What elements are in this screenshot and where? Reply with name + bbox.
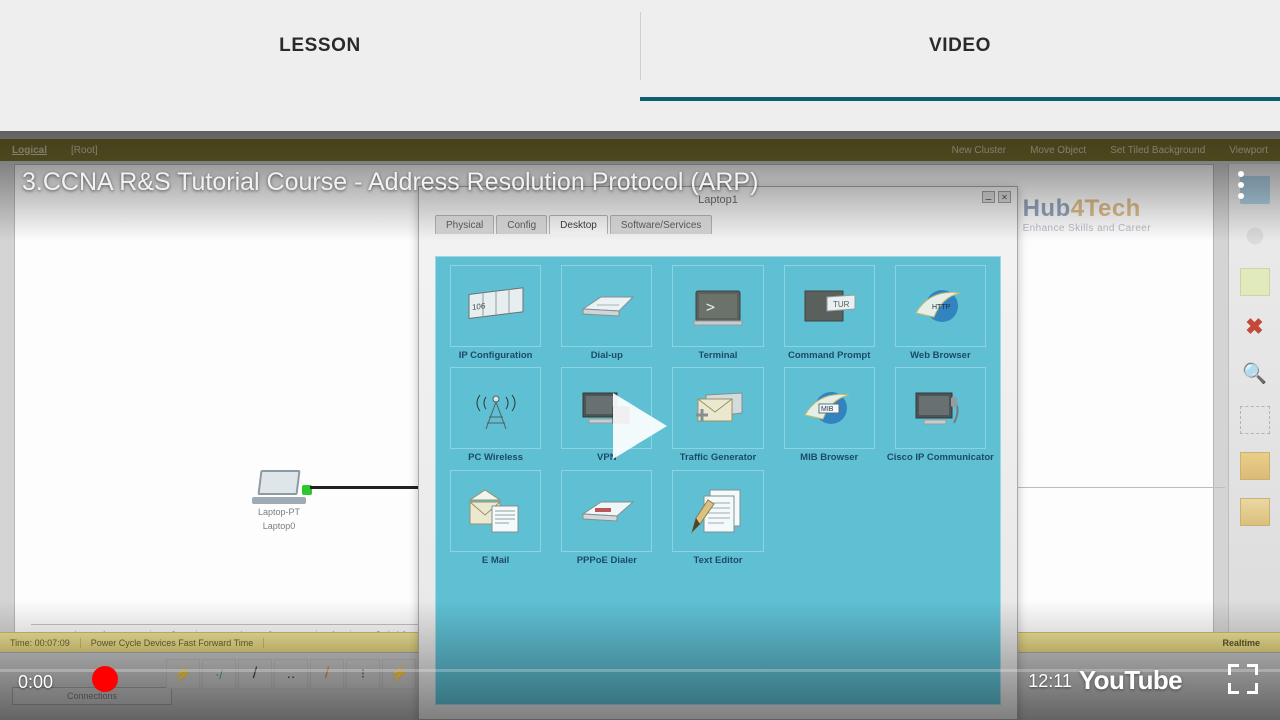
- device-desktop-panel: 106 IP Configuration: [435, 256, 1001, 705]
- desktop-item-label: E Mail: [442, 555, 549, 566]
- laptop-name-label: Laptop0: [247, 521, 311, 532]
- pt-status-mode[interactable]: Realtime: [1222, 638, 1280, 648]
- minimize-button[interactable]: ⚊: [982, 191, 995, 203]
- pt-status-time: Time: 00:07:09: [0, 638, 81, 648]
- fullscreen-corner-tl: [1228, 664, 1239, 675]
- desktop-item-ip-configuration[interactable]: 106 IP Configuration: [442, 265, 549, 367]
- svg-text:106: 106: [472, 301, 486, 312]
- fullscreen-corner-bl: [1228, 683, 1239, 694]
- device-tab-desktop[interactable]: Desktop: [549, 215, 608, 234]
- desktop-item-label: Command Prompt: [776, 350, 883, 361]
- device-tab-physical[interactable]: Physical: [435, 215, 494, 234]
- pt-menu-bar: Logical [Root] New Cluster Move Object S…: [0, 139, 1280, 161]
- pt-tool-inspect-hand-icon[interactable]: [1240, 222, 1270, 250]
- pt-menu-root[interactable]: [Root]: [59, 145, 110, 156]
- laptop-icon: [252, 470, 306, 504]
- traffic-generator-icon: [672, 367, 763, 449]
- svg-text:MIB: MIB: [821, 406, 834, 413]
- pt-right-toolbar: ✖ 🔍: [1228, 164, 1280, 709]
- laptop-screen-shape: [257, 470, 300, 495]
- desktop-item-mib-browser[interactable]: MIB MIB Browser: [776, 367, 883, 469]
- text-editor-icon: [672, 470, 763, 552]
- pc-wireless-icon: [450, 367, 541, 449]
- svg-text:TUR: TUR: [833, 300, 850, 309]
- video-title[interactable]: 3.CCNA R&S Tutorial Course - Address Res…: [22, 168, 758, 197]
- video-player[interactable]: Logical [Root] New Cluster Move Object S…: [0, 131, 1280, 720]
- desktop-item-label: MIB Browser: [776, 452, 883, 463]
- watermark-title: Hub4Tech: [1023, 195, 1151, 223]
- device-tab-software-services[interactable]: Software/Services: [610, 215, 713, 234]
- tab-lesson-label: LESSON: [279, 35, 361, 57]
- duration-label: 12:11: [1028, 671, 1072, 692]
- active-tab-indicator: [640, 97, 1280, 101]
- device-dialog-laptop1: Laptop1 ⚊ ✕ Physical Config Desktop Soft…: [418, 186, 1018, 720]
- ip-configuration-icon: 106: [450, 265, 541, 347]
- play-triangle-icon[interactable]: [613, 393, 667, 459]
- command-prompt-icon: TUR: [784, 265, 875, 347]
- desktop-item-label: PC Wireless: [442, 452, 549, 463]
- pt-tool-magnifier-icon[interactable]: 🔍: [1240, 360, 1270, 388]
- current-time-label: 0:00: [18, 672, 53, 693]
- desktop-item-dial-up[interactable]: Dial-up: [553, 265, 660, 367]
- desktop-item-label: Traffic Generator: [664, 452, 771, 463]
- desktop-item-cisco-ip-communicator[interactable]: Cisco IP Communicator: [887, 367, 994, 469]
- fullscreen-corner-tr: [1247, 664, 1258, 675]
- mib-browser-icon: MIB: [784, 367, 875, 449]
- desktop-item-label: IP Configuration: [442, 350, 549, 361]
- watermark-part3: Tech: [1085, 195, 1141, 222]
- desktop-item-pc-wireless[interactable]: PC Wireless: [442, 367, 549, 469]
- web-browser-icon: HTTP: [895, 265, 986, 347]
- desktop-item-label: Cisco IP Communicator: [887, 452, 994, 463]
- desktop-item-web-browser[interactable]: HTTP Web Browser: [887, 265, 994, 367]
- desktop-item-command-prompt[interactable]: TUR Command Prompt: [776, 265, 883, 367]
- pt-menu-logical[interactable]: Logical: [0, 145, 59, 156]
- pt-menu-set-tiled-background[interactable]: Set Tiled Background: [1098, 145, 1217, 156]
- svg-text:HTTP: HTTP: [932, 304, 951, 311]
- fullscreen-icon[interactable]: [1228, 664, 1258, 694]
- tab-video-label: VIDEO: [929, 35, 991, 57]
- desktop-item-pppoe-dialer[interactable]: PPPoE Dialer: [553, 470, 660, 572]
- close-button[interactable]: ✕: [998, 191, 1011, 203]
- laptop-base-shape: [252, 497, 306, 504]
- watermark-tagline: Enhance Skills and Career: [1023, 223, 1151, 234]
- desktop-icon-grid: 106 IP Configuration: [436, 257, 1000, 572]
- cisco-ip-communicator-icon: [895, 367, 986, 449]
- desktop-item-label: Dial-up: [553, 350, 660, 361]
- dot-3: [1238, 193, 1244, 199]
- three-dots-vertical-icon[interactable]: [1226, 163, 1256, 207]
- desktop-item-label: Terminal: [664, 350, 771, 361]
- pt-tool-simple-pdu-icon[interactable]: [1240, 452, 1270, 480]
- desktop-item-label: PPPoE Dialer: [553, 555, 660, 566]
- dial-up-icon: [561, 265, 652, 347]
- desktop-item-terminal[interactable]: > Terminal: [664, 265, 771, 367]
- pt-tool-complex-pdu-icon[interactable]: [1240, 498, 1270, 526]
- tab-lesson[interactable]: LESSON: [0, 0, 640, 131]
- fullscreen-corner-br: [1247, 683, 1258, 694]
- device-tab-config[interactable]: Config: [496, 215, 547, 234]
- player-controls: 0:00 12:11 YouTube: [0, 664, 1280, 720]
- terminal-icon: >: [672, 265, 763, 347]
- pt-tool-note-icon[interactable]: [1240, 268, 1270, 296]
- top-tabs: LESSON VIDEO: [0, 0, 1280, 131]
- pppoe-dialer-icon: [561, 470, 652, 552]
- pt-tool-resize-shape-icon[interactable]: [1240, 406, 1270, 434]
- watermark-part1: Hub: [1023, 195, 1071, 222]
- pt-menu-viewport[interactable]: Viewport: [1217, 145, 1280, 156]
- device-dialog-window-buttons: ⚊ ✕: [982, 191, 1011, 203]
- hub4tech-watermark: Hub4Tech Enhance Skills and Career: [1023, 195, 1151, 234]
- svg-text:>: >: [706, 298, 715, 316]
- pt-menu-new-cluster[interactable]: New Cluster: [940, 145, 1018, 156]
- tab-video[interactable]: VIDEO: [640, 0, 1280, 131]
- record-dot-icon: [92, 666, 118, 692]
- desktop-item-traffic-generator[interactable]: Traffic Generator: [664, 367, 771, 469]
- topology-device-laptop0[interactable]: Laptop-PT Laptop0: [247, 470, 311, 533]
- dot-1: [1238, 171, 1244, 177]
- desktop-item-e-mail[interactable]: E Mail: [442, 470, 549, 572]
- desktop-item-label: Web Browser: [887, 350, 994, 361]
- pt-tool-delete-x-icon[interactable]: ✖: [1240, 314, 1270, 342]
- laptop-model-label: Laptop-PT: [247, 507, 311, 518]
- page-root: LESSON VIDEO Logical [Root] New Cluster …: [0, 0, 1280, 720]
- watermark-part2: 4: [1071, 195, 1085, 222]
- email-icon: [450, 470, 541, 552]
- pt-menu-move-object[interactable]: Move Object: [1018, 145, 1098, 156]
- device-dialog-tabs: Physical Config Desktop Software/Service…: [419, 215, 1017, 234]
- desktop-item-label: Text Editor: [664, 555, 771, 566]
- youtube-logo[interactable]: YouTube: [1079, 665, 1182, 696]
- desktop-item-text-editor[interactable]: Text Editor: [664, 470, 771, 572]
- pt-status-actions[interactable]: Power Cycle Devices Fast Forward Time: [81, 638, 265, 648]
- dot-2: [1238, 182, 1244, 188]
